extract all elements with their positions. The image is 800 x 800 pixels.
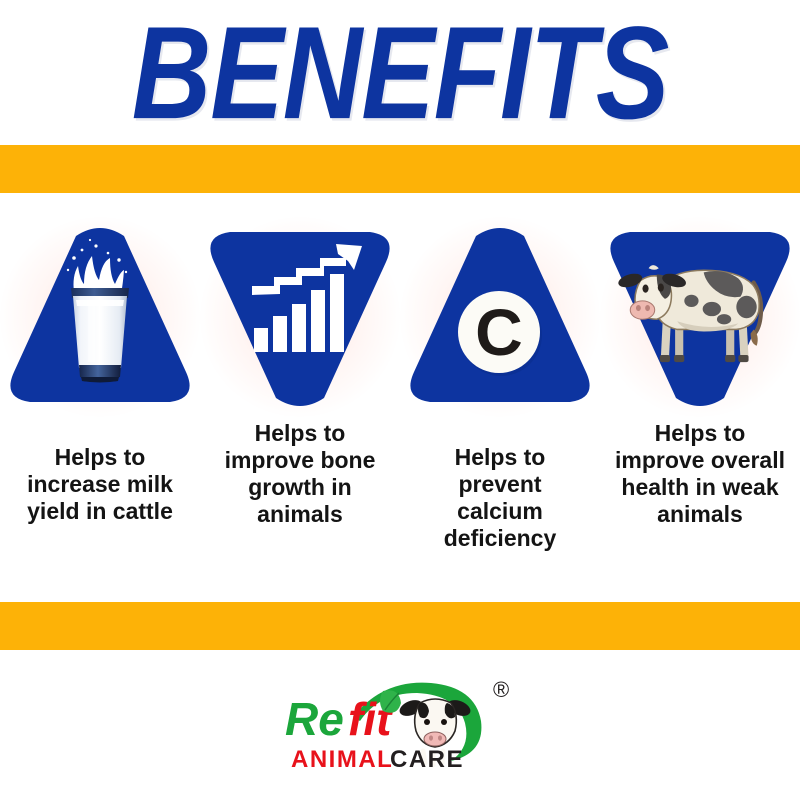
- benefit-icon-4[interactable]: [604, 222, 796, 412]
- title-zone: BENEFITS: [0, 0, 800, 145]
- triangle-up-shape: [4, 222, 196, 412]
- logo-tagline-part-1: ANIMAL: [291, 746, 393, 773]
- benefit-card-3[interactable]: C Helps to prevent calcium deficiency: [400, 222, 600, 592]
- benefit-icon-3[interactable]: C: [404, 222, 596, 412]
- logo-tagline-part-2: CARE: [390, 746, 464, 773]
- benefit-caption-3: Helps to prevent calcium deficiency: [404, 444, 596, 552]
- benefit-card-1[interactable]: Helps to increase milk yield in cattle: [0, 222, 200, 592]
- top-accent-bar: [0, 145, 800, 193]
- logo-word-part-1: Re: [285, 693, 344, 745]
- bottom-accent-bar: [0, 602, 800, 650]
- brand-logo[interactable]: Re fit: [0, 655, 800, 800]
- registered-mark: ®: [493, 677, 509, 702]
- triangle-up-shape: [404, 222, 596, 412]
- benefit-icon-1[interactable]: [4, 222, 196, 412]
- benefits-poster: BENEFITS: [0, 0, 800, 800]
- benefit-card-2[interactable]: Helps to improve bone growth in animals: [200, 222, 400, 592]
- page-title: BENEFITS: [132, 7, 669, 139]
- benefit-icon-2[interactable]: [204, 222, 396, 412]
- benefits-row: Helps to increase milk yield in cattle: [0, 222, 800, 592]
- benefit-caption-1: Helps to increase milk yield in cattle: [4, 444, 196, 525]
- benefit-caption-4: Helps to improve overall health in weak …: [604, 420, 796, 528]
- triangle-down-shape: [204, 222, 396, 412]
- benefit-card-4[interactable]: Helps to improve overall health in weak …: [600, 222, 800, 592]
- benefit-caption-2: Helps to improve bone growth in animals: [204, 420, 396, 528]
- triangle-down-shape: [604, 222, 796, 412]
